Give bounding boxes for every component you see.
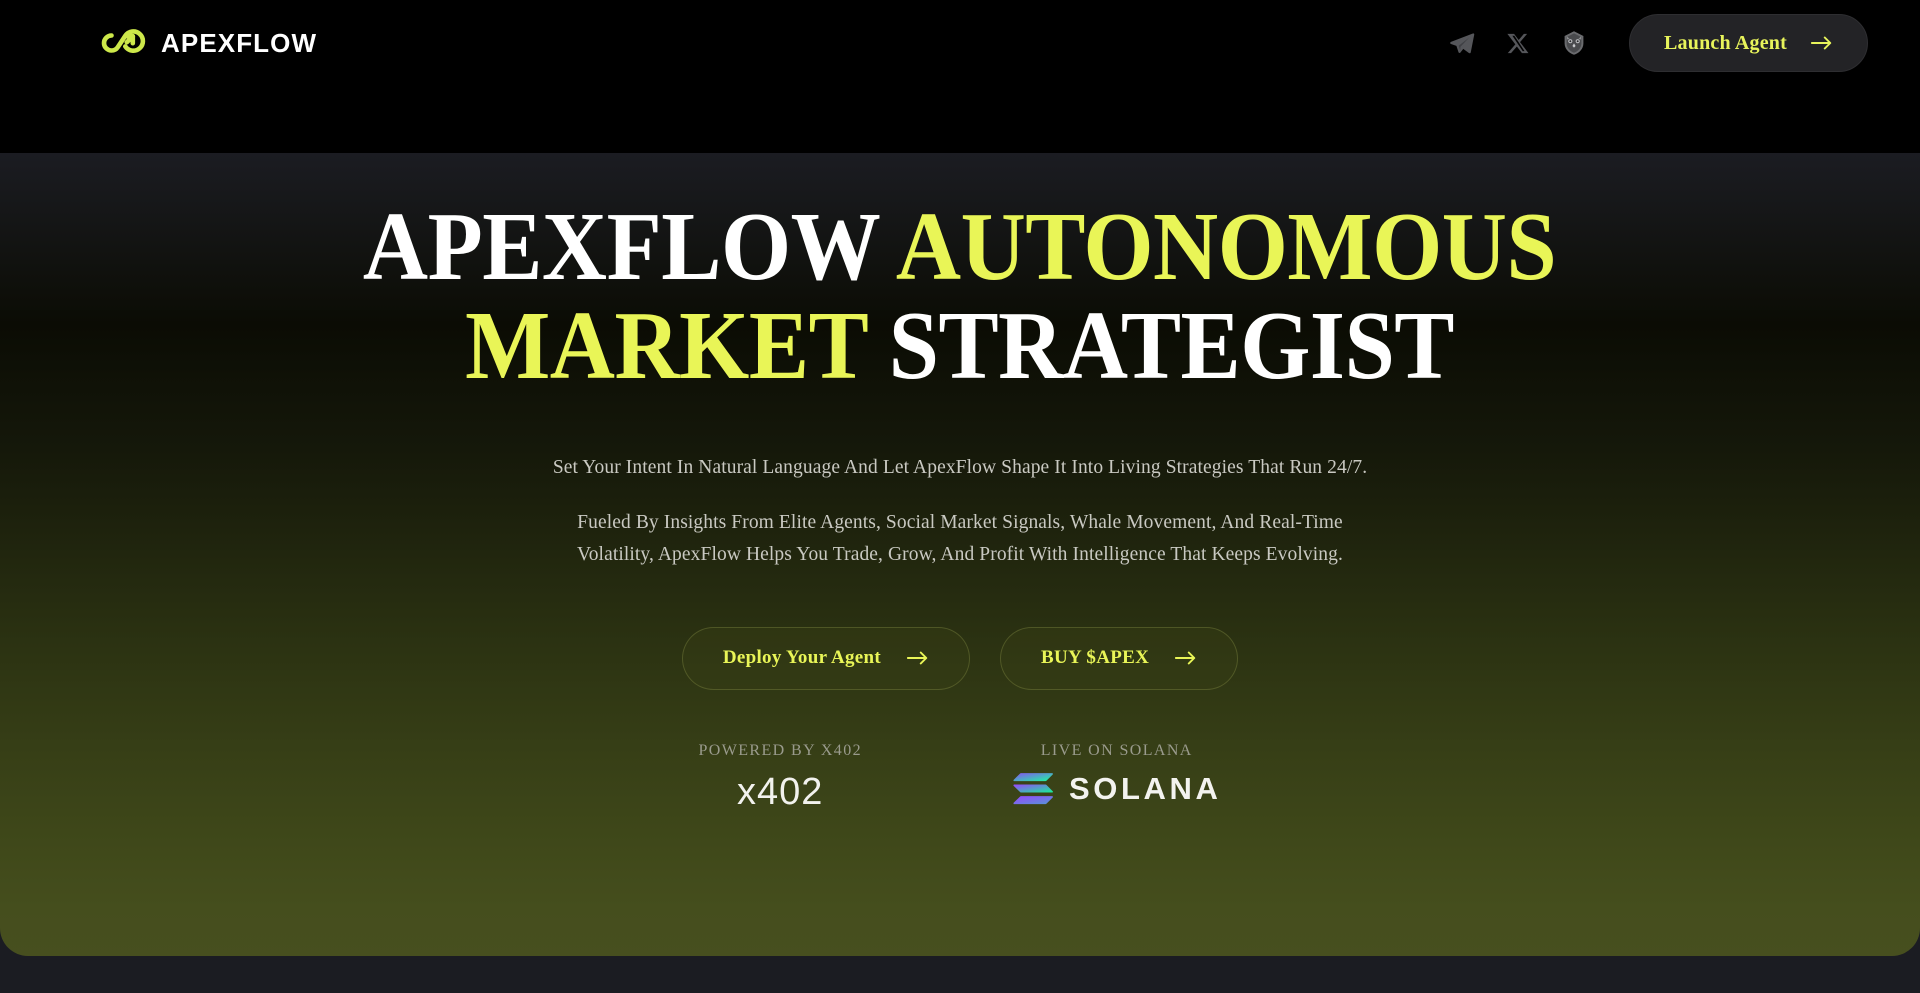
x402-wordmark-icon: x402 bbox=[737, 773, 823, 811]
arrow-right-icon bbox=[1175, 650, 1197, 666]
social-links bbox=[1449, 30, 1587, 56]
badge-label-x402: POWERED BY X402 bbox=[698, 742, 862, 760]
headline-accent-1: AUTONOMOUS bbox=[896, 193, 1556, 300]
launch-agent-label: Launch Agent bbox=[1664, 32, 1787, 55]
brand-name: APEXFLOW bbox=[161, 28, 317, 59]
hero-section: APEXFLOW bbox=[0, 0, 1920, 956]
solana-logo-icon bbox=[1012, 773, 1054, 805]
buy-apex-button[interactable]: BUY $APEX bbox=[1000, 627, 1238, 690]
owl-icon[interactable] bbox=[1561, 30, 1587, 56]
top-navigation-bar: APEXFLOW bbox=[0, 0, 1920, 86]
brand-logo[interactable]: APEXFLOW bbox=[98, 23, 317, 63]
deploy-your-agent-button[interactable]: Deploy Your Agent bbox=[682, 627, 970, 690]
headline-part-1: APEXFLOW bbox=[363, 193, 896, 300]
telegram-icon[interactable] bbox=[1449, 30, 1475, 56]
x-twitter-icon[interactable] bbox=[1505, 30, 1531, 56]
page-title: APEXFLOW AUTONOMOUS MARKET STRATEGIST bbox=[363, 198, 1556, 396]
arrow-right-icon bbox=[1811, 35, 1833, 51]
hero-content: APEXFLOW AUTONOMOUS MARKET STRATEGIST Se… bbox=[0, 198, 1920, 811]
badge-label-solana: LIVE ON SOLANA bbox=[1041, 742, 1193, 760]
partner-badges: POWERED BY X402 x402 LIVE ON SOLANA bbox=[698, 742, 1221, 811]
badge-powered-by-x402: POWERED BY X402 x402 bbox=[698, 742, 862, 811]
hero-subtitle-1: Set Your Intent In Natural Language And … bbox=[545, 452, 1375, 484]
solana-logo-text: SOLANA bbox=[1069, 773, 1222, 804]
nav-right-group: Launch Agent bbox=[1449, 14, 1868, 72]
arrow-right-icon bbox=[907, 650, 929, 666]
solana-badge-logo: SOLANA bbox=[1012, 773, 1222, 805]
x402-logo-text: x402 bbox=[737, 773, 823, 811]
buy-apex-label: BUY $APEX bbox=[1041, 647, 1149, 669]
cta-button-row: Deploy Your Agent BUY $APEX bbox=[682, 627, 1238, 690]
hero-subtitle-2: Fueled By Insights From Elite Agents, So… bbox=[545, 507, 1375, 570]
deploy-your-agent-label: Deploy Your Agent bbox=[723, 647, 881, 669]
badge-live-on-solana: LIVE ON SOLANA bbox=[1012, 742, 1222, 805]
hero-subtitle-block: Set Your Intent In Natural Language And … bbox=[545, 452, 1375, 571]
launch-agent-button[interactable]: Launch Agent bbox=[1629, 14, 1868, 72]
headline-part-2: STRATEGIST bbox=[867, 292, 1454, 399]
headline-accent-2: MARKET bbox=[466, 292, 868, 399]
apexflow-loop-arrow-logo-icon bbox=[98, 23, 146, 63]
